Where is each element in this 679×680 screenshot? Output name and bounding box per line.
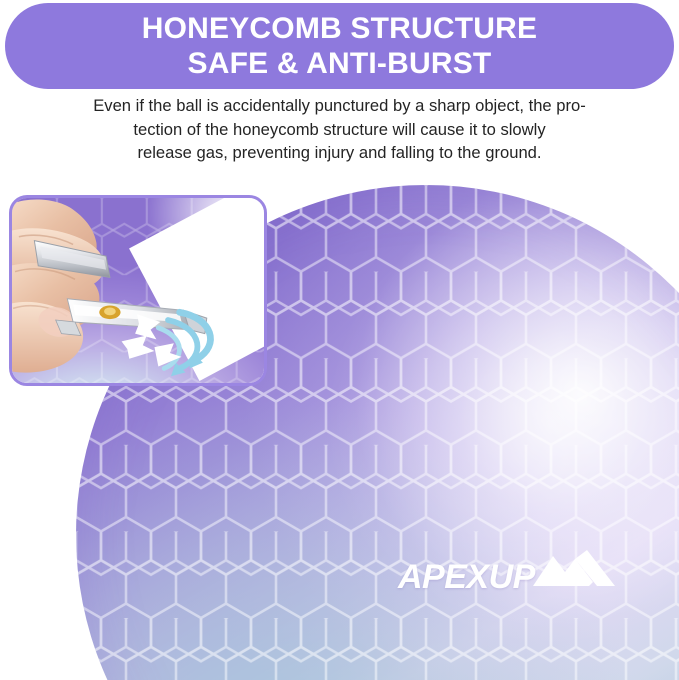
inset-artwork: [12, 198, 264, 383]
header-banner: HONEYCOMB STRUCTURE SAFE & ANTI-BURST: [5, 3, 674, 89]
header-title-line-1: HONEYCOMB STRUCTURE: [142, 11, 537, 46]
description-line-2: tection of the honeycomb structure will …: [18, 118, 661, 142]
description-paragraph: Even if the ball is accidentally punctur…: [18, 94, 661, 165]
puncture-demo-card: [9, 195, 267, 386]
brand-logo-text: APEXUP: [398, 560, 535, 594]
description-line-1: Even if the ball is accidentally punctur…: [18, 94, 661, 118]
hand-gripping-icon: [12, 200, 104, 373]
mountain-peaks-icon: [531, 548, 617, 593]
description-line-3: release gas, preventing injury and falli…: [18, 141, 661, 165]
brand-logo: APEXUP: [398, 548, 617, 594]
product-feature-image: APEXUP: [0, 0, 679, 680]
header-title-line-2: SAFE & ANTI-BURST: [188, 46, 492, 81]
